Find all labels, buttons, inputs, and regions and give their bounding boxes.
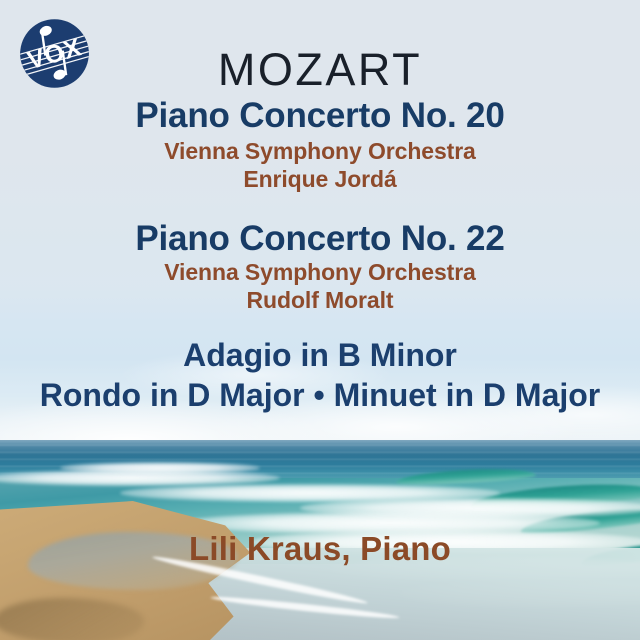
conductor-concerto-22: Rudolf Moralt <box>0 287 640 314</box>
composer-name: MOZART <box>0 44 640 96</box>
orchestra-concerto-22: Vienna Symphony Orchestra <box>0 259 640 286</box>
conductor-concerto-20: Enrique Jordá <box>0 166 640 193</box>
work-title-concerto-20: Piano Concerto No. 20 <box>0 96 640 136</box>
orchestra-concerto-20: Vienna Symphony Orchestra <box>0 138 640 165</box>
work-title-concerto-22: Piano Concerto No. 22 <box>0 219 640 259</box>
additional-work-adagio: Adagio in B Minor <box>0 337 640 374</box>
album-cover: VOX MOZART Piano Concerto No. 20 Vienna … <box>0 0 640 640</box>
performer-credit: Lili Kraus, Piano <box>0 530 640 568</box>
additional-work-rondo-minuet: Rondo in D Major • Minuet in D Major <box>0 377 640 414</box>
cover-text-block: MOZART Piano Concerto No. 20 Vienna Symp… <box>0 0 640 640</box>
